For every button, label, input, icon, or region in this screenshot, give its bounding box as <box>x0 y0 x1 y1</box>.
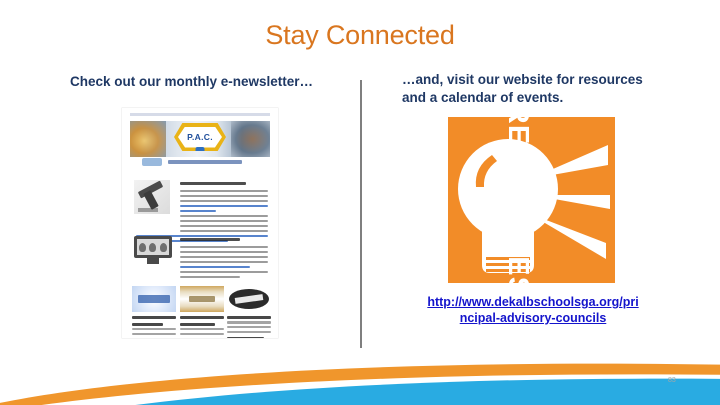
newsletter-column-1 <box>132 286 176 338</box>
article-1-line <box>180 190 268 192</box>
article-2-heading <box>180 238 240 241</box>
newsletter-column-2 <box>180 286 224 338</box>
newsletter-masthead-line <box>130 113 270 116</box>
article-2-line <box>180 271 268 273</box>
slide: Stay Connected Check out our monthly e-n… <box>0 0 720 405</box>
column-3-heading <box>227 337 264 338</box>
column-2-line <box>180 333 224 335</box>
left-column-heading: Check out our monthly e-newsletter… <box>70 73 355 91</box>
monitor-screen <box>137 239 169 255</box>
resources-label: RESOURCES <box>500 117 533 283</box>
article-1-line <box>180 195 268 197</box>
pac-logo-icon: P.A.C. <box>174 123 226 151</box>
column-divider <box>360 80 362 348</box>
resources-lightbulb-graphic[interactable]: RESOURCES <box>448 117 615 283</box>
article-1-link[interactable] <box>180 205 268 207</box>
footer-swoosh-decoration <box>0 345 720 405</box>
article-2-link[interactable] <box>180 266 250 268</box>
column-1-heading <box>132 323 163 326</box>
column-1-heading <box>132 316 176 319</box>
newsletter-secondary-logo-icon <box>142 158 162 166</box>
newsletter-column-3 <box>227 286 271 338</box>
column-3-heading <box>227 316 271 319</box>
column-3-line <box>227 331 271 333</box>
column-3-line <box>227 321 271 323</box>
right-column-heading: …and, visit our website for resources an… <box>402 71 664 107</box>
newsletter-logo-subtitle <box>168 160 268 165</box>
article-1-line <box>180 225 268 227</box>
column-2-heading <box>180 316 224 319</box>
column-1-line <box>132 328 176 330</box>
column-2-heading <box>180 323 215 326</box>
column-1-image <box>132 286 176 312</box>
column-1-line <box>132 333 176 335</box>
article-1-heading <box>180 182 246 185</box>
article-1-line <box>180 230 268 232</box>
gavel-caption <box>138 208 158 212</box>
article-2-line <box>180 246 268 248</box>
column-2-line <box>180 328 224 330</box>
article-2-line <box>180 276 240 278</box>
website-link-line-2[interactable]: ncipal-advisory-councils <box>460 311 607 325</box>
article-2-line <box>180 261 268 263</box>
article-1-line <box>180 215 268 217</box>
gavel-icon <box>134 180 170 214</box>
column-3-image <box>227 286 271 312</box>
page-number: 83 <box>668 377 676 384</box>
column-3-line <box>227 326 271 328</box>
newsletter-thumbnail[interactable]: P.A.C. <box>122 108 278 338</box>
pac-logo-text: P.A.C. <box>178 127 222 148</box>
computer-monitor-icon <box>134 236 172 266</box>
website-link-line-1[interactable]: http://www.dekalbschoolsga.org/pri <box>427 295 638 309</box>
article-1-line <box>180 220 268 222</box>
article-2-line <box>180 251 268 253</box>
article-1-line <box>180 200 268 202</box>
article-2-line <box>180 256 268 258</box>
website-link[interactable]: http://www.dekalbschoolsga.org/pri ncipa… <box>404 294 662 326</box>
article-1-link[interactable] <box>180 210 216 212</box>
column-2-image <box>180 286 224 312</box>
page-title: Stay Connected <box>0 20 720 51</box>
